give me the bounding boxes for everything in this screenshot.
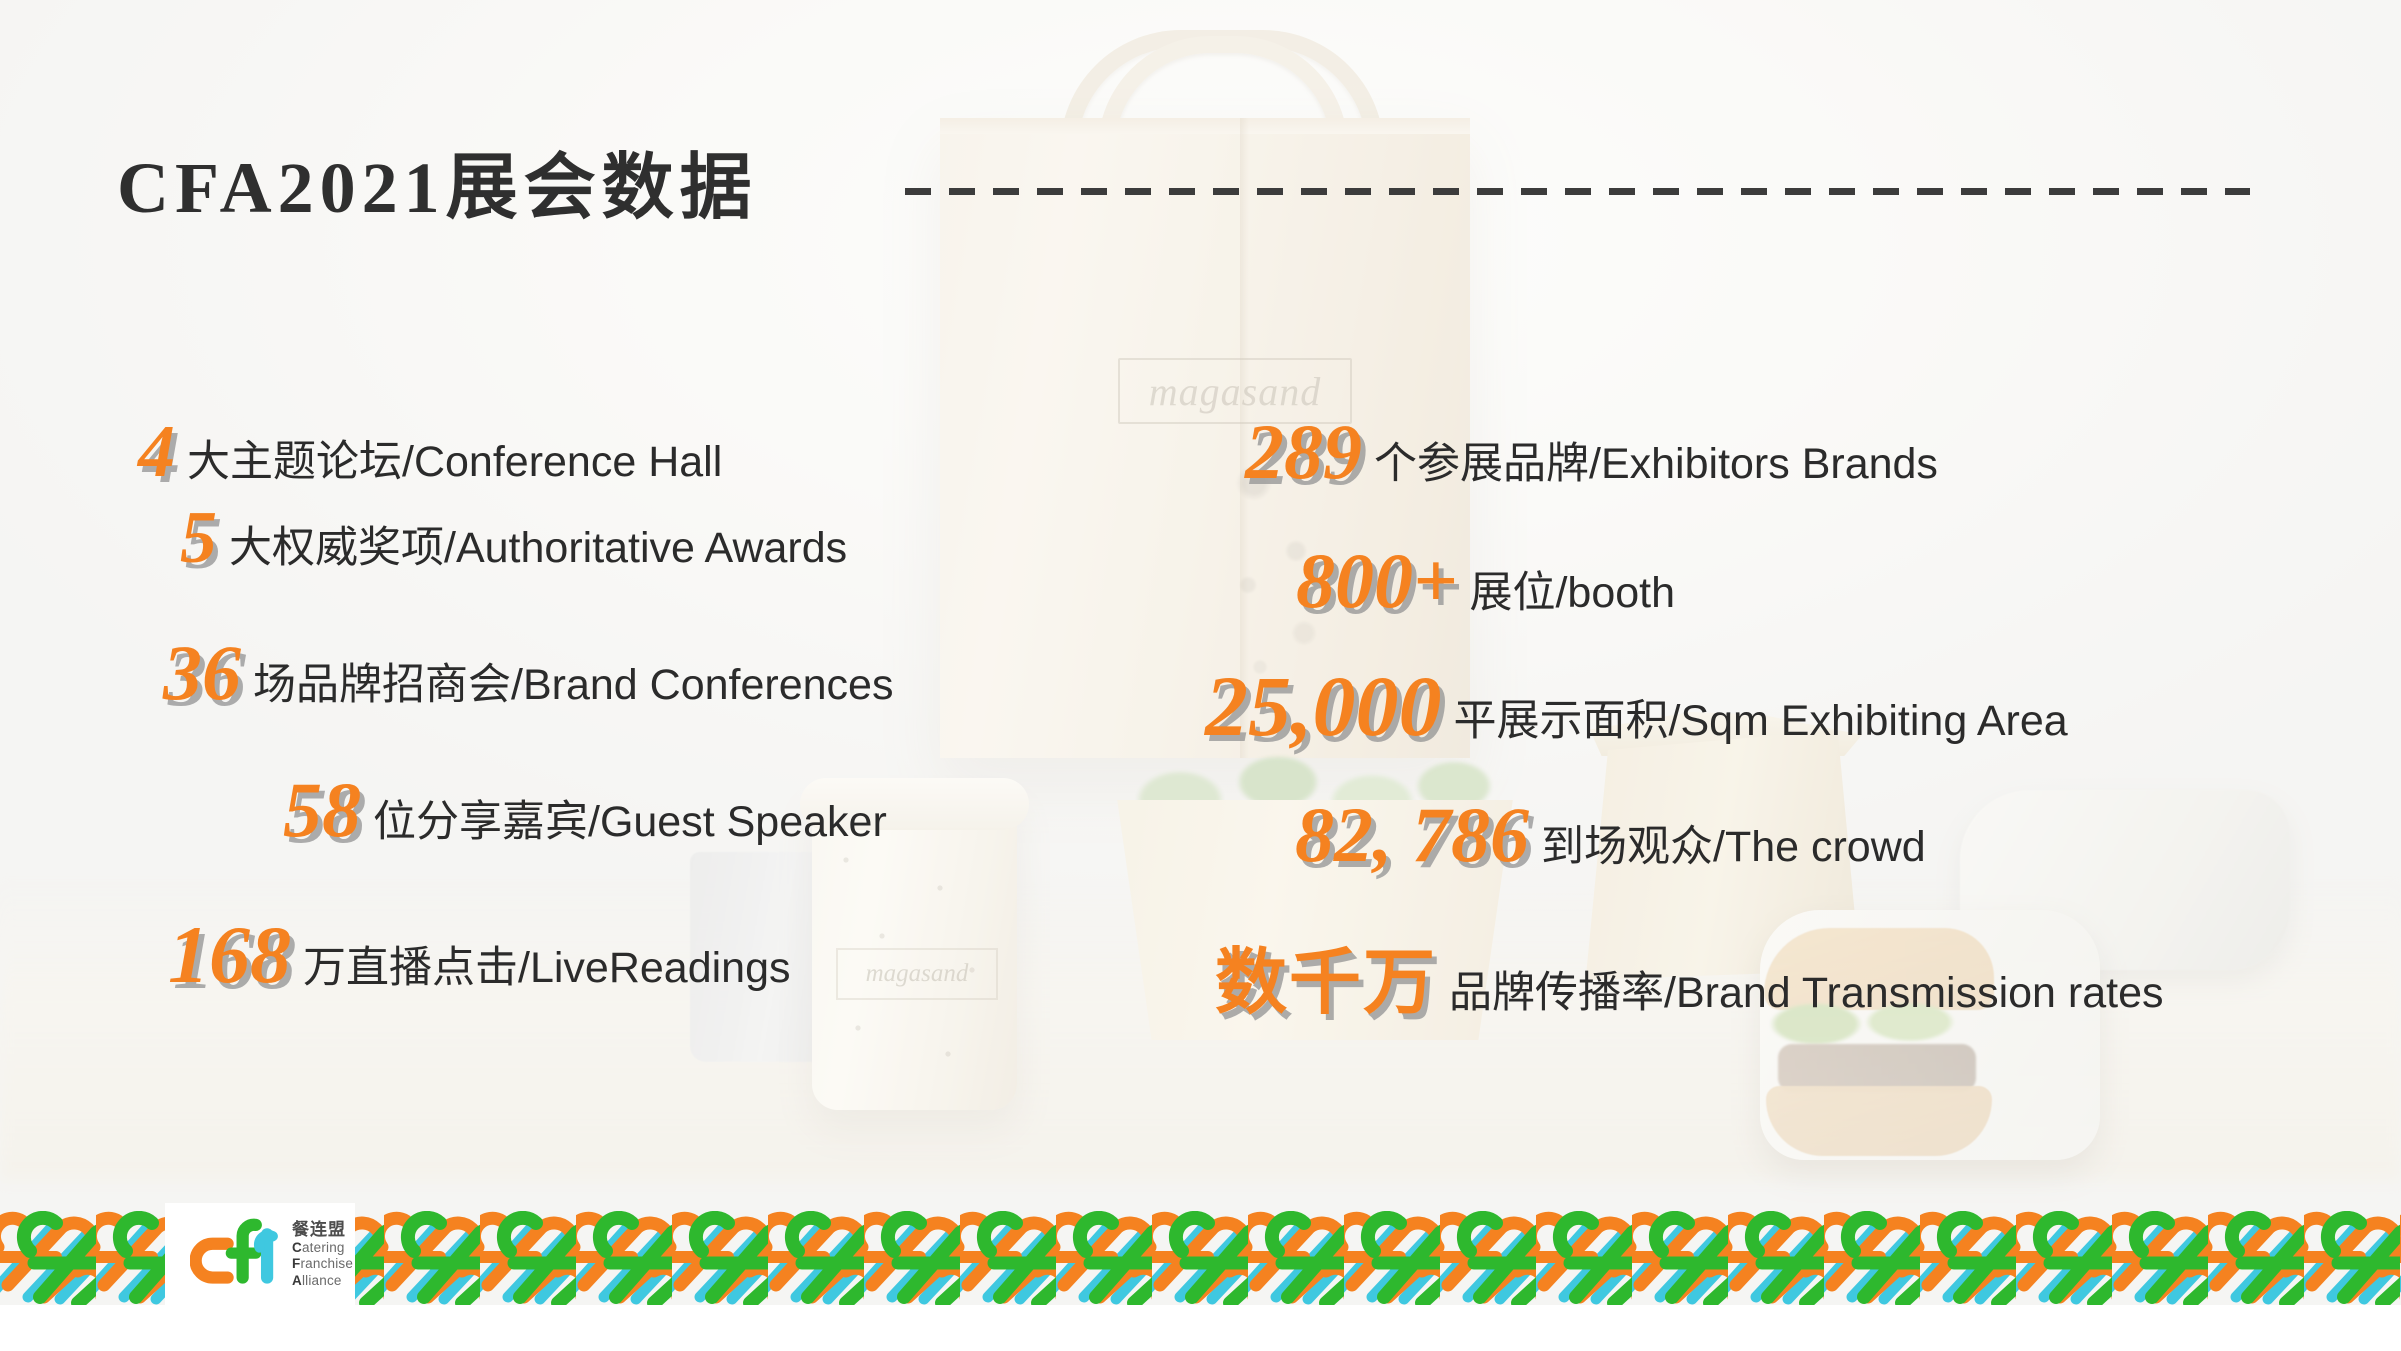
stat-number: 168 <box>168 914 291 996</box>
stat-label: 品牌传播率/Brand Transmission rates <box>1449 972 2163 1015</box>
slide-canvas: magasand magasand CFA2021展会数据 4 大主题论坛/Co… <box>0 0 2401 1351</box>
stat-row-exhibiting-area: 25,000 平展示面积/Sqm Exhibiting Area <box>1205 663 2068 749</box>
stat-row-brand-conferences: 36 场品牌招商会/Brand Conferences <box>163 634 893 712</box>
cfa-logo-rest-franchise: ranchise <box>300 1256 353 1271</box>
stat-number: 4 <box>138 415 175 489</box>
stat-label: 位分享嘉宾/Guest Speaker <box>373 801 887 844</box>
cfa-logo-mark <box>190 1215 284 1295</box>
stat-label: 到场观众/The crowd <box>1541 826 1926 869</box>
cfa-logo[interactable]: 餐连盟 Catering Franchise Alliance <box>190 1207 390 1303</box>
stat-row-authoritative-awards: 5 大权威奖项/Authoritative Awards <box>180 501 847 575</box>
stat-number: 289 <box>1245 413 1362 491</box>
stat-label: 大权威奖项/Authoritative Awards <box>229 527 847 570</box>
stat-number: 5 <box>180 501 217 575</box>
stat-row-crowd: 82, 786 到场观众/The crowd <box>1295 796 1926 874</box>
stat-label: 大主题论坛/Conference Hall <box>187 441 722 484</box>
title-dashed-rule <box>905 188 2250 195</box>
cfa-logo-text: 餐连盟 Catering Franchise Alliance <box>292 1214 353 1296</box>
stat-number: 25,000 <box>1205 663 1442 749</box>
cfa-logo-line-alliance: Alliance <box>292 1273 353 1289</box>
cfa-logo-line-franchise: Franchise <box>292 1256 353 1272</box>
stat-number: 36 <box>163 634 241 712</box>
cfa-logo-rest-alliance: lliance <box>302 1273 342 1288</box>
stat-row-booth: 800+ 展位/booth <box>1296 542 1675 620</box>
stat-number: 800+ <box>1296 542 1457 620</box>
stat-row-guest-speaker: 58 位分享嘉宾/Guest Speaker <box>283 771 887 849</box>
cfa-logo-line-catering: Catering <box>292 1240 353 1256</box>
stat-label: 展位/booth <box>1469 572 1675 615</box>
stat-number: 82, 786 <box>1295 796 1529 874</box>
cfa-logo-initial-a: A <box>292 1273 302 1288</box>
stat-row-conference-hall: 4 大主题论坛/Conference Hall <box>138 415 722 489</box>
stat-number: 数千万 <box>1215 946 1437 1018</box>
cfa-logo-initial-c: C <box>292 1240 302 1255</box>
stat-row-live-readings: 168 万直播点击/LiveReadings <box>168 914 791 996</box>
page-title: CFA2021展会数据 <box>117 128 758 233</box>
stat-row-brand-transmission: 数千万 品牌传播率/Brand Transmission rates <box>1215 946 2164 1018</box>
stat-label: 平展示面积/Sqm Exhibiting Area <box>1454 700 2068 743</box>
cfa-logo-rest-catering: atering <box>302 1240 345 1255</box>
stat-label: 个参展品牌/Exhibitors Brands <box>1374 443 1938 486</box>
stat-label: 场品牌招商会/Brand Conferences <box>253 664 893 707</box>
cfa-logo-name-cn: 餐连盟 <box>292 1221 353 1240</box>
footer-white-strip <box>0 1305 2401 1351</box>
stat-number: 58 <box>283 771 361 849</box>
stat-label: 万直播点击/LiveReadings <box>303 947 791 990</box>
stat-row-exhibitors-brands: 289 个参展品牌/Exhibitors Brands <box>1245 413 1938 491</box>
